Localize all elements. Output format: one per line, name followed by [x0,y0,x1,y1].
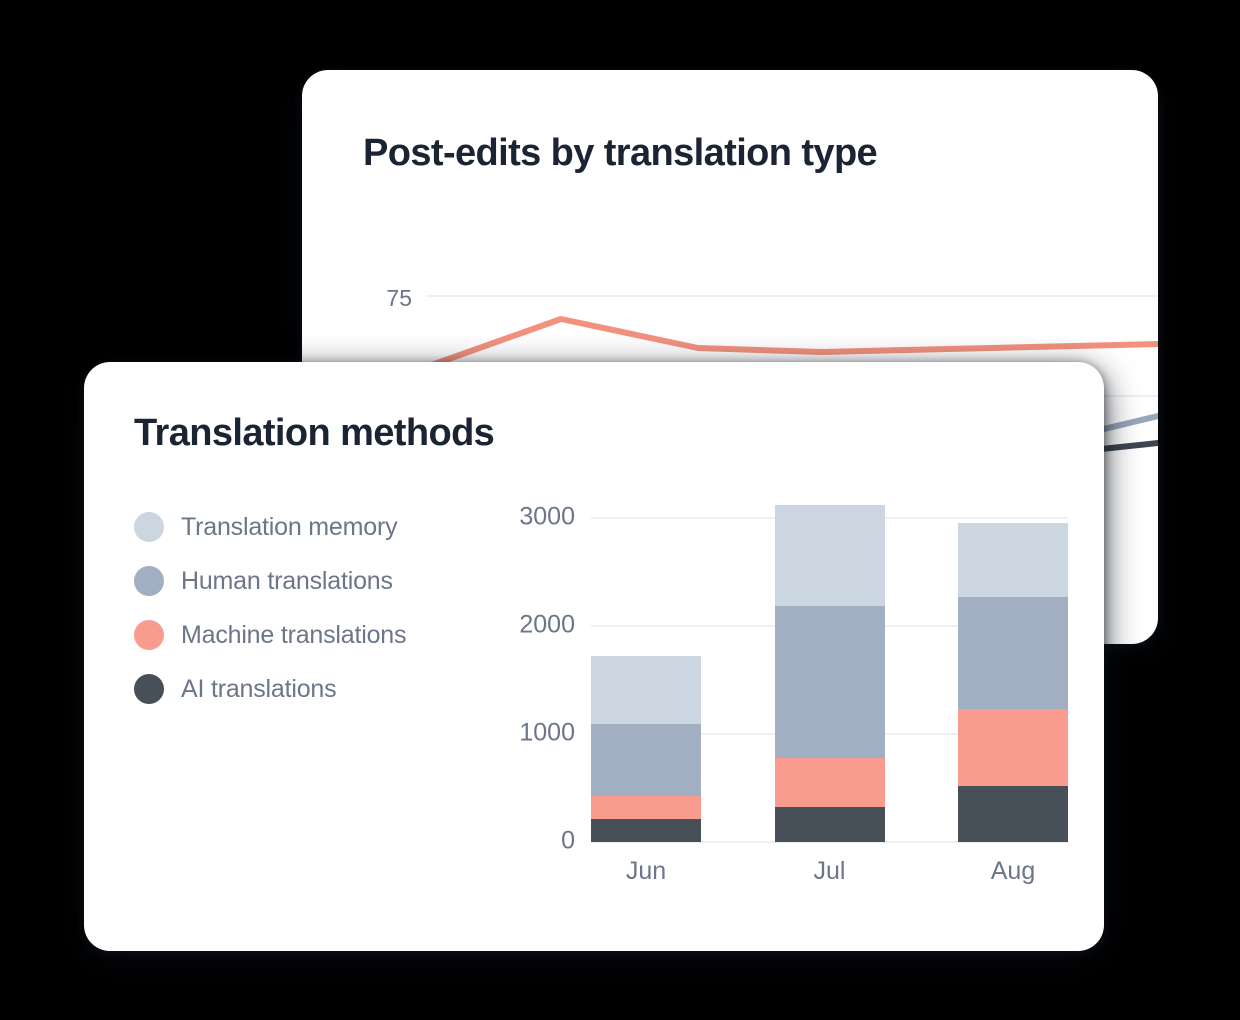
bar-segment-human-translations[interactable] [591,724,701,796]
bar-ytick-0: 0 [561,827,575,856]
x-label-jul: Jul [775,857,885,886]
screenshot-stage: Post-edits by translation type 75 50 Tra… [0,0,1240,1020]
bar-chart[interactable]: 3000 2000 1000 0 [488,502,1068,922]
bar-stack-jul[interactable] [775,505,885,842]
bar-ytick-1000: 1000 [519,719,575,748]
bar-segment-machine-translations[interactable] [591,796,701,819]
x-label-jun: Jun [591,857,701,886]
chart-legend[interactable]: Translation memory Human translations Ma… [134,500,406,716]
circle-swatch-icon [134,674,164,704]
circle-swatch-icon [134,620,164,650]
bar-stack-jun[interactable] [591,656,701,842]
line-series-machine-translations [426,319,1158,367]
bar-segment-human-translations[interactable] [958,597,1068,709]
legend-label: Machine translations [181,621,406,650]
bar-segment-machine-translations[interactable] [958,709,1068,786]
legend-label: Human translations [181,567,393,596]
circle-swatch-icon [134,512,164,542]
bar-segment-translation-memory[interactable] [958,523,1068,597]
legend-label: Translation memory [181,513,397,542]
post-edits-card-title: Post-edits by translation type [363,132,877,175]
translation-methods-card-title: Translation methods [134,412,494,455]
circle-swatch-icon [134,566,164,596]
bar-ytick-2000: 2000 [519,611,575,640]
legend-item-translation-memory[interactable]: Translation memory [134,500,406,554]
bar-segment-ai-translations[interactable] [775,807,885,842]
bar-segment-translation-memory[interactable] [591,656,701,724]
bar-ytick-3000: 3000 [519,503,575,532]
bar-segment-translation-memory[interactable] [775,505,885,606]
legend-item-human-translations[interactable]: Human translations [134,554,406,608]
legend-item-ai-translations[interactable]: AI translations [134,662,406,716]
bar-stack-aug[interactable] [958,523,1068,842]
x-label-aug: Aug [958,857,1068,886]
legend-item-machine-translations[interactable]: Machine translations [134,608,406,662]
bar-segment-ai-translations[interactable] [958,786,1068,842]
bar-segment-ai-translations[interactable] [591,819,701,842]
bar-chart-x-axis: Jun Jul Aug [591,857,1068,886]
bar-chart-bars [591,517,1068,842]
translation-methods-card[interactable]: Translation methods Translation memory H… [84,362,1104,951]
bar-segment-machine-translations[interactable] [775,758,885,807]
line-ytick-75: 75 [352,285,412,312]
bar-segment-human-translations[interactable] [775,606,885,758]
legend-label: AI translations [181,675,336,704]
